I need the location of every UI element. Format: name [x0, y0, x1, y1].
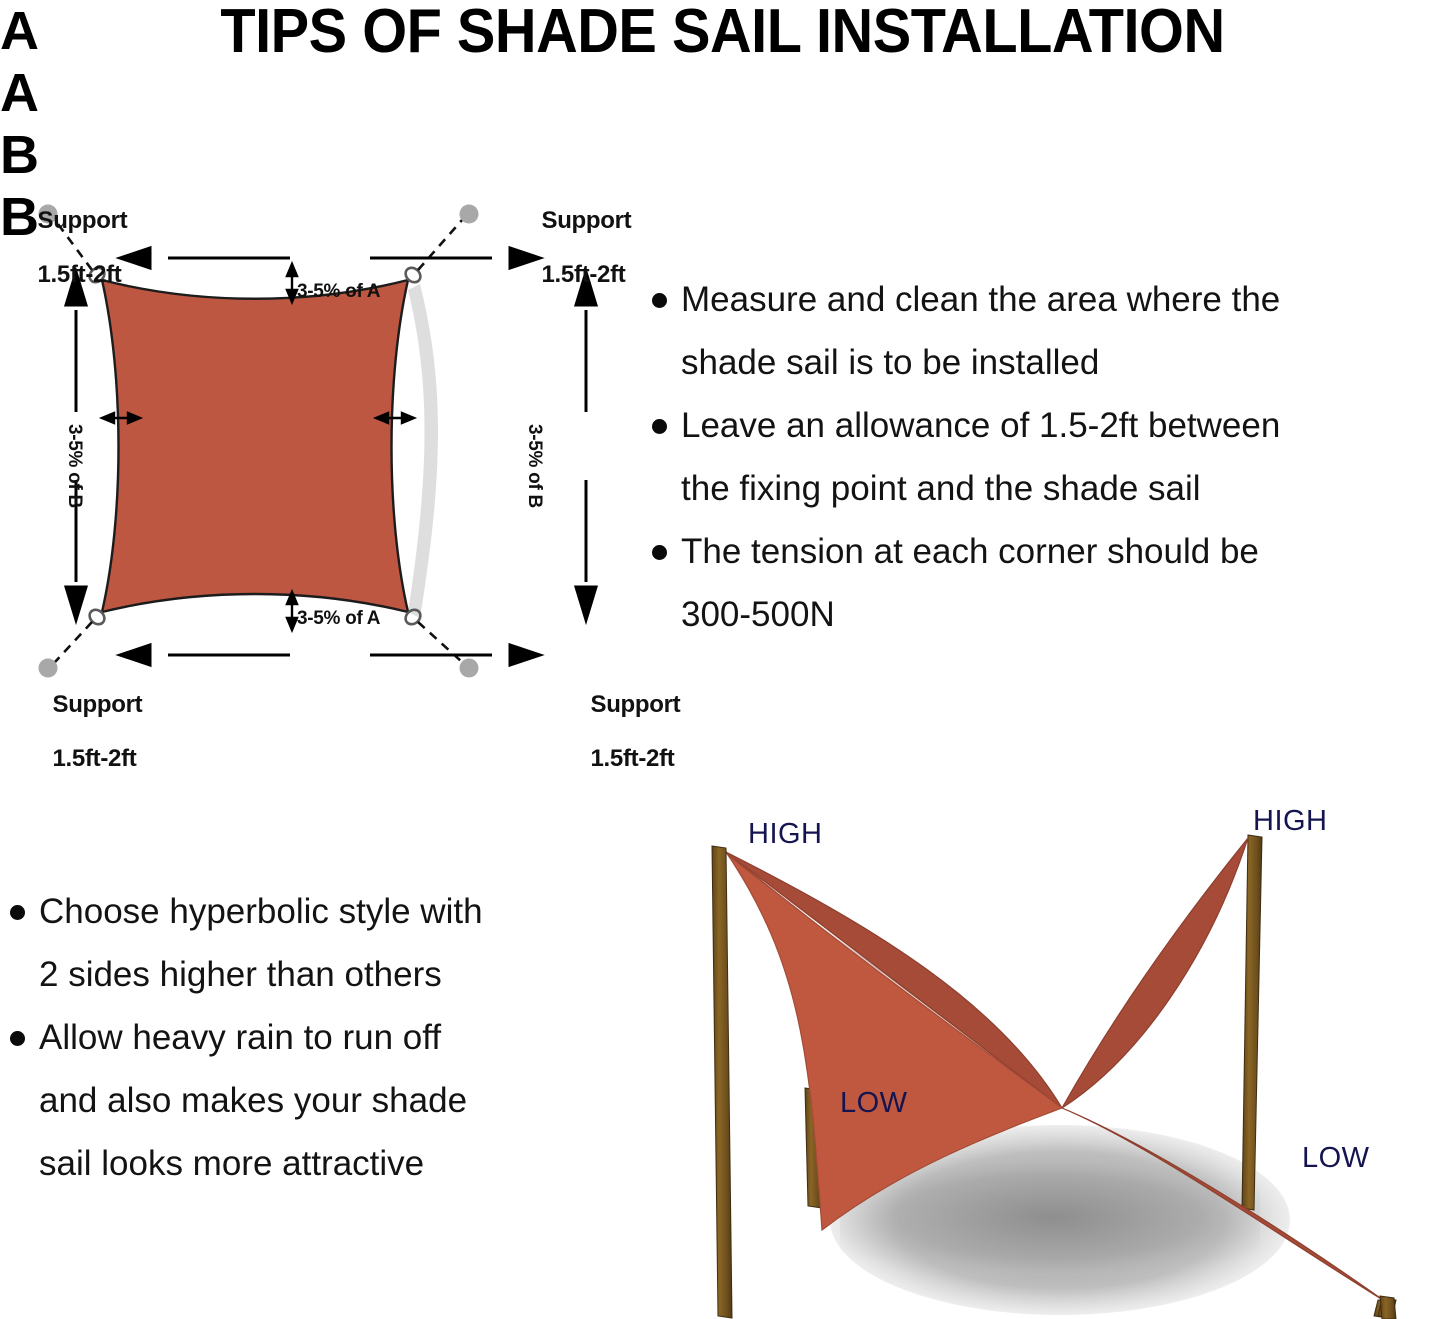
tip-line: and also makes your shade	[39, 1069, 467, 1132]
support-line-bottom-left	[55, 622, 92, 662]
tip-line: 300-500N	[681, 583, 835, 646]
page-title: TIPS OF SHADE SAIL INSTALLATION	[51, 0, 1395, 67]
support-label-value: 1.5ft-2ft	[590, 745, 674, 772]
support-label-value: 1.5ft-2ft	[52, 745, 136, 772]
tip-line: Choose hyperbolic style with	[39, 880, 483, 943]
support-dot-top-right	[460, 205, 479, 224]
list-item-continuation: sail looks more attractive	[10, 1132, 630, 1195]
support-label-bottom-left: Support 1.5ft-2ft	[27, 665, 142, 799]
post-high-right	[1242, 835, 1262, 1210]
sag-indicator-right	[376, 413, 414, 423]
tip-line: Leave an allowance of 1.5-2ft between	[681, 394, 1280, 457]
support-label-title: Support	[590, 691, 680, 718]
bullet-spacer	[10, 1157, 25, 1172]
list-item-continuation: 300-500N	[652, 583, 1442, 646]
label-low-left: LOW	[840, 1087, 908, 1120]
list-item: Allow heavy rain to run off	[10, 1006, 630, 1069]
support-label-top-right: Support 1.5ft-2ft	[516, 181, 631, 315]
list-item-continuation: and also makes your shade	[10, 1069, 630, 1132]
list-item: The tension at each corner should be	[652, 520, 1442, 583]
dimension-letter-a-bottom: A	[0, 62, 1445, 124]
support-label-value: 1.5ft-2ft	[37, 261, 121, 288]
tip-line: 2 sides higher than others	[39, 943, 442, 1006]
tip-line: shade sail is to be installed	[681, 331, 1099, 394]
bullet-dot-icon	[652, 293, 667, 308]
sag-label-b-left: 3-5% of B	[64, 424, 85, 508]
list-item-continuation: 2 sides higher than others	[10, 943, 630, 1006]
sag-indicator-top	[287, 264, 297, 302]
sag-indicator-bottom	[287, 592, 297, 630]
bullet-dot-icon	[652, 545, 667, 560]
tip-line: Allow heavy rain to run off	[39, 1006, 441, 1069]
post-high-left	[712, 846, 732, 1318]
support-label-bottom-right: Support 1.5ft-2ft	[565, 665, 680, 799]
dim-arrow-b-right	[576, 272, 596, 620]
list-item-continuation: the fixing point and the shade sail	[652, 457, 1442, 520]
list-item: Choose hyperbolic style with	[10, 880, 630, 943]
hyperbolic-style-tips-list: Choose hyperbolic style with 2 sides hig…	[10, 880, 630, 1195]
bullet-spacer	[10, 968, 25, 983]
tip-line: sail looks more attractive	[39, 1132, 424, 1195]
list-item: Leave an allowance of 1.5-2ft between	[652, 394, 1442, 457]
support-label-title: Support	[52, 691, 142, 718]
hypar-sail-diagram-svg	[670, 790, 1445, 1319]
list-item-continuation: shade sail is to be installed	[652, 331, 1442, 394]
infographic-page: TIPS OF SHADE SAIL INSTALLATION	[0, 0, 1445, 1319]
bullet-spacer	[652, 356, 667, 371]
support-label-title: Support	[37, 207, 127, 234]
bullet-dot-icon	[10, 905, 25, 920]
shade-sail-shape	[102, 280, 408, 612]
tip-line: The tension at each corner should be	[681, 520, 1259, 583]
support-label-top-left: Support 1.5ft-2ft	[12, 181, 127, 315]
installation-tips-list: Measure and clean the area where the sha…	[652, 268, 1442, 646]
label-low-right: LOW	[1302, 1142, 1370, 1175]
bullet-dot-icon	[652, 419, 667, 434]
tip-line: the fixing point and the shade sail	[681, 457, 1201, 520]
label-high-left: HIGH	[748, 818, 823, 851]
sag-label-a-bottom: 3-5% of A	[297, 608, 380, 629]
bullet-spacer	[652, 482, 667, 497]
support-label-title: Support	[541, 207, 631, 234]
sail-edge-shadow	[408, 284, 438, 618]
dim-arrow-a-bottom	[120, 645, 540, 665]
bullet-spacer	[10, 1094, 25, 1109]
post-low-right-full	[1380, 1296, 1396, 1319]
sag-label-a-top: 3-5% of A	[297, 281, 380, 302]
label-high-right: HIGH	[1253, 805, 1328, 838]
bullet-spacer	[652, 608, 667, 623]
list-item: Measure and clean the area where the	[652, 268, 1442, 331]
support-dot-bottom-right	[460, 659, 479, 678]
support-line-top-right	[418, 220, 462, 270]
bullet-dot-icon	[10, 1031, 25, 1046]
support-label-value: 1.5ft-2ft	[541, 261, 625, 288]
sag-label-b-right: 3-5% of B	[524, 424, 545, 508]
tip-line: Measure and clean the area where the	[681, 268, 1280, 331]
dim-arrow-a-top	[120, 248, 540, 268]
